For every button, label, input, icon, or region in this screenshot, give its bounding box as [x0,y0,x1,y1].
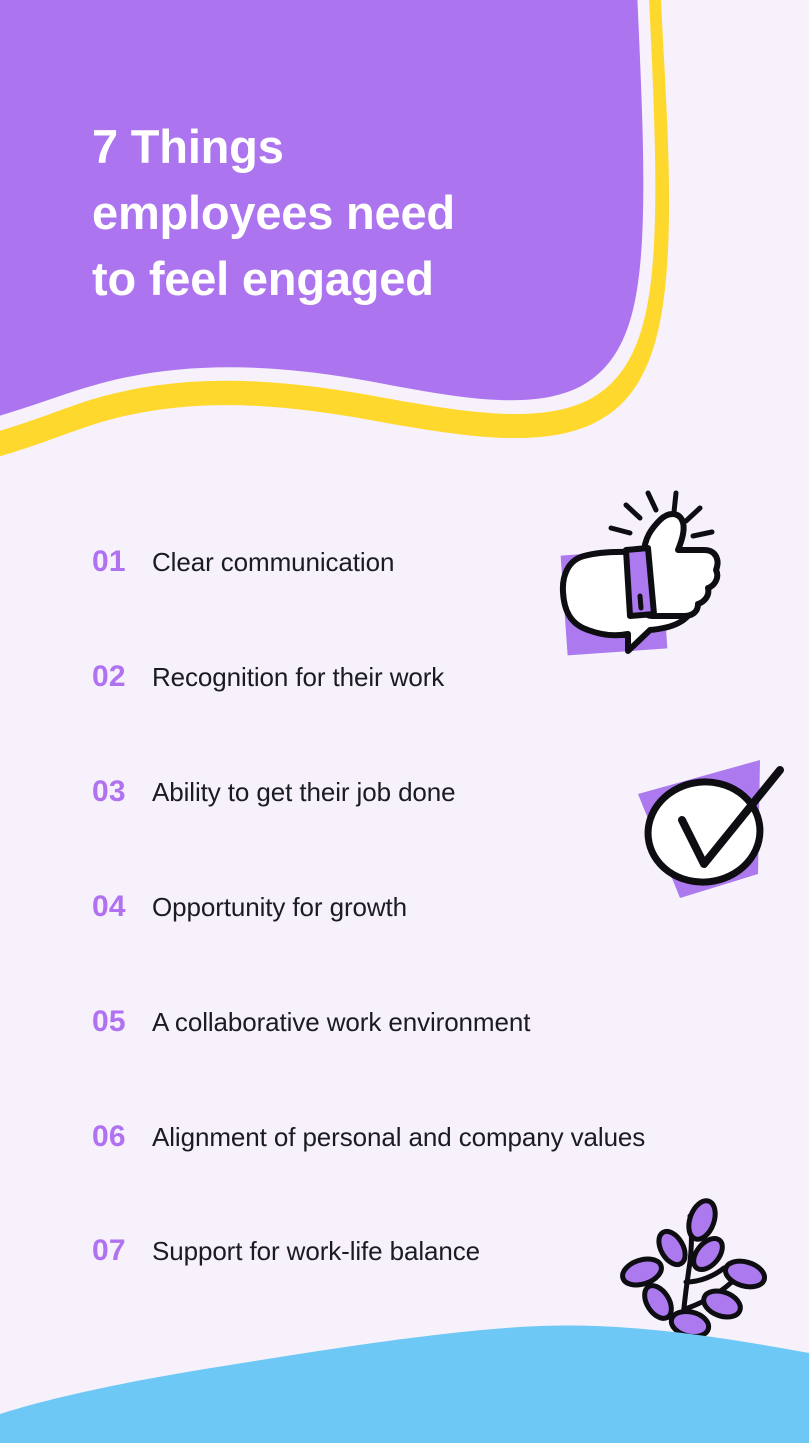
list-item-label: Opportunity for growth [152,892,407,923]
list-item-number: 06 [92,1120,138,1154]
list-item: 06 Alignment of personal and company val… [92,1120,645,1154]
list-item-label: Alignment of personal and company values [152,1122,645,1153]
list-item-label: Ability to get their job done [152,777,456,808]
list-item: 05 A collaborative work environment [92,1005,530,1039]
list-item-number: 04 [92,890,138,924]
list-item-label: A collaborative work environment [152,1007,530,1038]
blue-wave [0,1325,809,1443]
list-item-label: Clear communication [152,547,394,578]
list-item-label: Recognition for their work [152,662,444,693]
list-item-label: Support for work-life balance [152,1236,480,1267]
list-item-number: 01 [92,545,138,579]
engagement-list: 01 Clear communication 02 Recognition fo… [0,0,809,1443]
list-item-number: 03 [92,775,138,809]
list-item-number: 02 [92,660,138,694]
infographic-canvas: 7 Things employees need to feel engaged [0,0,809,1443]
bottom-wave-decoration [0,1283,809,1443]
list-item: 07 Support for work-life balance [92,1234,480,1268]
list-item-number: 07 [92,1234,138,1268]
list-item: 03 Ability to get their job done [92,775,456,809]
list-item: 01 Clear communication [92,545,394,579]
list-item: 02 Recognition for their work [92,660,444,694]
list-item: 04 Opportunity for growth [92,890,407,924]
list-item-number: 05 [92,1005,138,1039]
